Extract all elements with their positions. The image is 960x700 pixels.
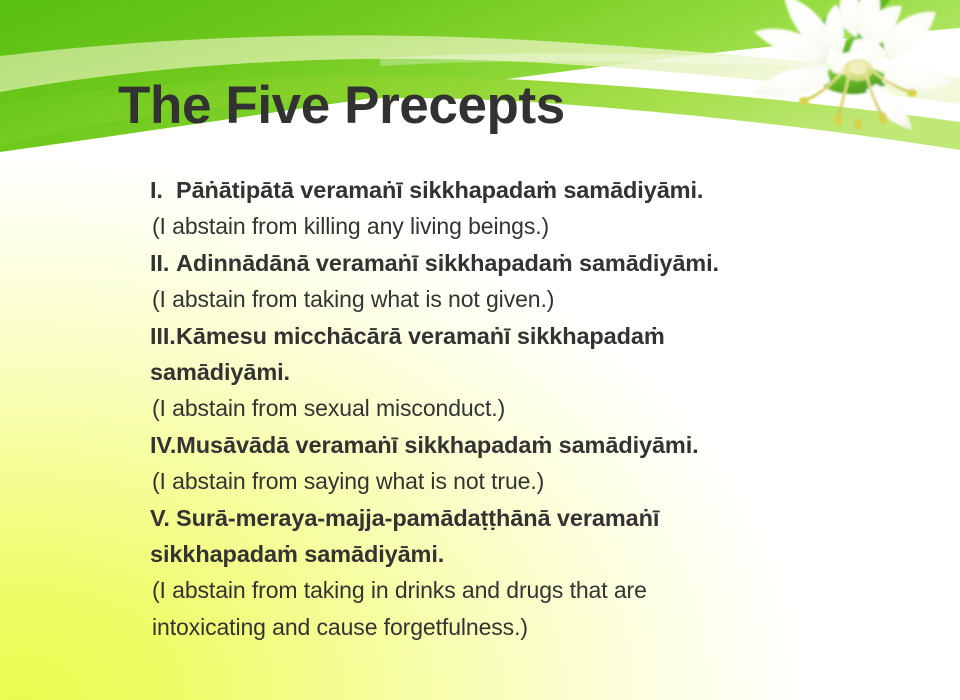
precept-4-numeral: IV. [150,427,176,463]
precept-1-gloss: (I abstain from killing any living being… [150,208,850,245]
precept-3-pali-continuation: samādiyāmi. [150,354,850,390]
precept-2-numeral: II. [150,245,176,281]
precept-5-pali-continuation: sikkhapadaṁ samādiyāmi. [150,536,850,572]
precept-5-numeral: V. [150,500,176,536]
precept-3-pali-text: Kāmesu micchācārā veramaṅī sikkhapadaṁ [176,323,665,349]
precept-3-numeral: III. [150,318,176,354]
slide-canvas: The Five Precepts I.Pāṅātipātā veramaṅī … [0,0,960,700]
precept-2-pali: II.Adinnādānā veramaṅī sikkhapadaṁ samād… [150,245,850,281]
precept-3-gloss: (I abstain from sexual misconduct.) [150,390,850,427]
precept-3-pali: III.Kāmesu micchācārā veramaṅī sikkhapad… [150,318,850,354]
precept-5-pali: V.Surā-meraya-majja-pamādaṭṭhānā veramaṅ… [150,500,850,536]
precept-1-pali-text: Pāṅātipātā veramaṅī sikkhapadaṁ samādiyā… [176,177,703,203]
precept-5-gloss: (I abstain from taking in drinks and dru… [150,572,850,609]
page-title: The Five Precepts [118,78,565,134]
precept-4-gloss: (I abstain from saying what is not true.… [150,463,850,500]
precept-2-pali-text: Adinnādānā veramaṅī sikkhapadaṁ samādiyā… [176,250,719,276]
precept-2-gloss: (I abstain from taking what is not given… [150,281,850,318]
lotus-svg [726,0,956,163]
precept-5-gloss-continuation: intoxicating and cause forgetfulness.) [150,609,850,646]
precept-5-pali-text: Surā-meraya-majja-pamādaṭṭhānā veramaṅī [176,505,659,531]
precept-4-pali: IV.Musāvādā veramaṅī sikkhapadaṁ samādiy… [150,427,850,463]
precept-1-pali: I.Pāṅātipātā veramaṅī sikkhapadaṁ samādi… [150,172,850,208]
white-lotus-flower [726,0,956,163]
precepts-list: I.Pāṅātipātā veramaṅī sikkhapadaṁ samādi… [150,172,850,646]
precept-1-numeral: I. [150,172,176,208]
precept-4-pali-text: Musāvādā veramaṅī sikkhapadaṁ samādiyāmi… [176,432,698,458]
